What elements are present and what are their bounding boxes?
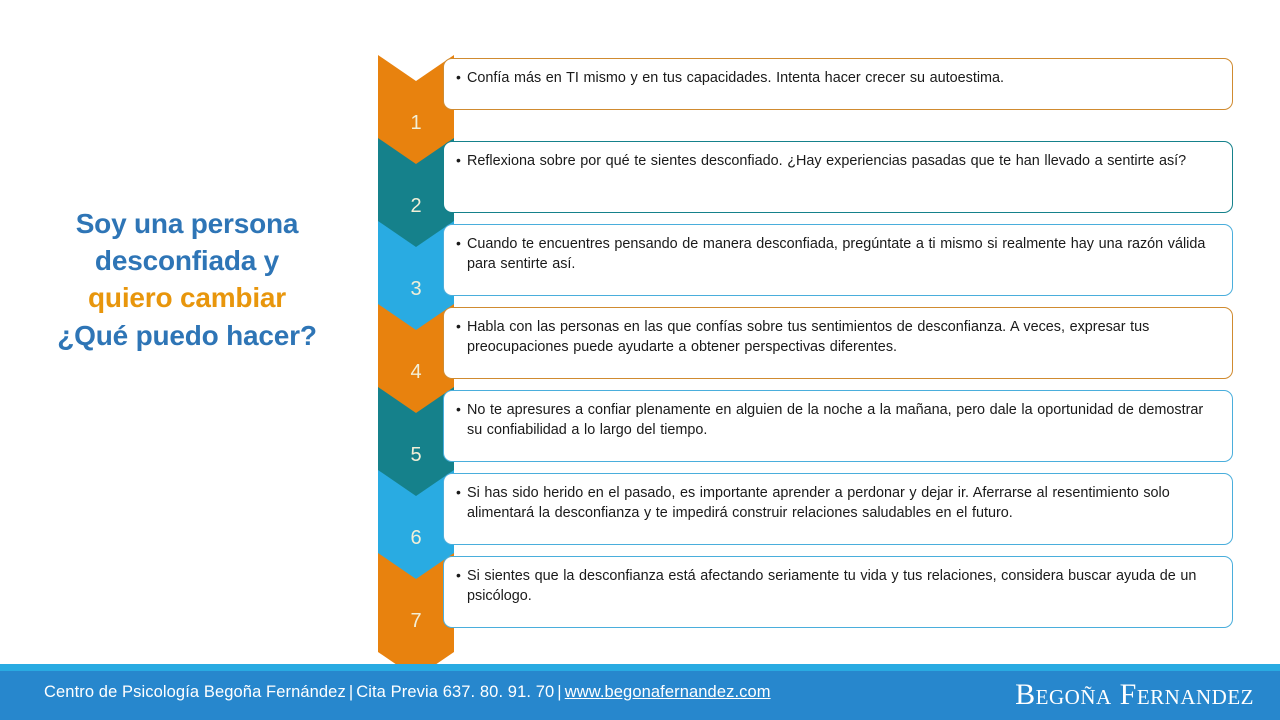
bullet-dot-icon: •	[456, 317, 467, 337]
step-text-box-6: •Si has sido herido en el pasado, es imp…	[443, 473, 1233, 545]
footer-appointment-label: Cita Previa	[356, 683, 438, 701]
footer-accent-strip	[0, 664, 1280, 671]
title-line-3: quiero cambiar	[22, 279, 352, 316]
footer-center-name: Centro de Psicología Begoña Fernández	[44, 683, 346, 701]
step-bullet-6: •Si has sido herido en el pasado, es imp…	[456, 483, 1218, 524]
step-text-2: Reflexiona sobre por qué te sientes desc…	[467, 151, 1218, 171]
footer-separator-1: |	[346, 683, 356, 701]
step-text-4: Habla con las personas en las que confía…	[467, 317, 1218, 358]
step-bullet-1: •Confía más en TI mismo y en tus capacid…	[456, 68, 1218, 88]
footer-phone: 637. 80. 91. 70	[443, 683, 555, 701]
step-text-5: No te apresures a confiar plenamente en …	[467, 400, 1218, 441]
step-bullet-2: •Reflexiona sobre por qué te sientes des…	[456, 151, 1218, 171]
step-text-box-3: •Cuando te encuentres pensando de manera…	[443, 224, 1233, 296]
page-title: Soy una persona desconfiada y quiero cam…	[22, 205, 352, 354]
title-line-1: Soy una persona	[22, 205, 352, 242]
process-flow-diagram: 1•Confía más en TI mismo y en tus capaci…	[378, 55, 1248, 655]
step-text-7: Si sientes que la desconfianza está afec…	[467, 566, 1218, 607]
step-text-1: Confía más en TI mismo y en tus capacida…	[467, 68, 1218, 88]
step-text-box-5: •No te apresures a confiar plenamente en…	[443, 390, 1233, 462]
step-text-box-4: •Habla con las personas en las que confí…	[443, 307, 1233, 379]
footer-contact-text: Centro de Psicología Begoña Fernández|Ci…	[44, 683, 771, 702]
step-text-box-7: •Si sientes que la desconfianza está afe…	[443, 556, 1233, 628]
step-text-6: Si has sido herido en el pasado, es impo…	[467, 483, 1218, 524]
bullet-dot-icon: •	[456, 151, 467, 171]
bullet-dot-icon: •	[456, 400, 467, 420]
brand-logo: Begoña Fernandez	[1015, 678, 1254, 712]
footer-separator-2: |	[554, 683, 564, 701]
title-line-2: desconfiada y	[22, 242, 352, 279]
footer-website-link[interactable]: www.begonafernandez.com	[565, 683, 771, 701]
footer-bar: Centro de Psicología Begoña Fernández|Ci…	[0, 664, 1280, 720]
step-text-box-2: •Reflexiona sobre por qué te sientes des…	[443, 141, 1233, 213]
bullet-dot-icon: •	[456, 566, 467, 586]
title-line-4: ¿Qué puedo hacer?	[22, 317, 352, 354]
bullet-dot-icon: •	[456, 483, 467, 503]
step-bullet-5: •No te apresures a confiar plenamente en…	[456, 400, 1218, 441]
step-bullet-4: •Habla con las personas en las que confí…	[456, 317, 1218, 358]
bullet-dot-icon: •	[456, 68, 467, 88]
step-bullet-3: •Cuando te encuentres pensando de manera…	[456, 234, 1218, 275]
bullet-dot-icon: •	[456, 234, 467, 254]
step-text-3: Cuando te encuentres pensando de manera …	[467, 234, 1218, 275]
step-bullet-7: •Si sientes que la desconfianza está afe…	[456, 566, 1218, 607]
step-text-box-1: •Confía más en TI mismo y en tus capacid…	[443, 58, 1233, 110]
